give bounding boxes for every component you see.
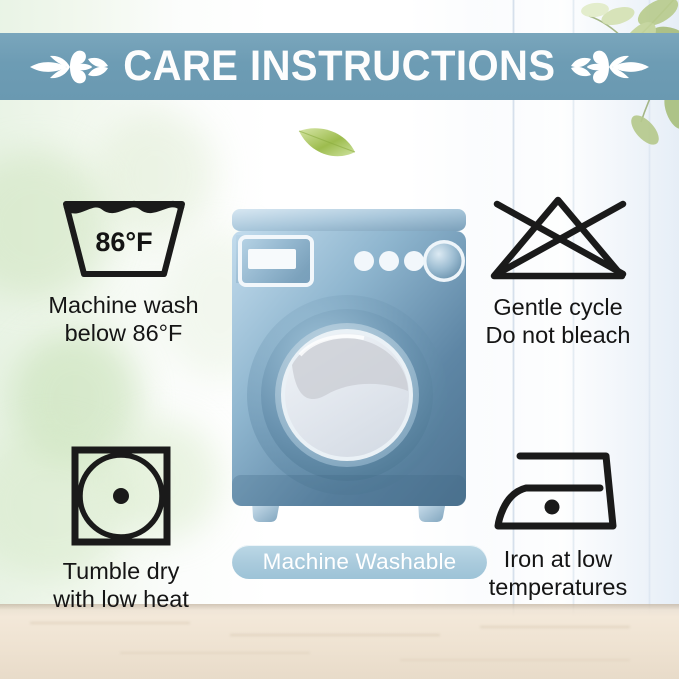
wooden-table-surface [0, 604, 679, 679]
caption-line: Tumble dry [6, 557, 236, 585]
wash-tub-temperature: 86°F [95, 227, 152, 257]
tumble-dry-low-heat-icon [69, 444, 173, 548]
caption-line: below 86°F [6, 319, 241, 347]
care-instructions-infographic: CARE INSTRUCTIONS 86°F Machine wash belo… [0, 0, 679, 679]
symbol-caption: Machine wash below 86°F [6, 291, 241, 347]
wood-grain [480, 626, 630, 628]
header-banner: CARE INSTRUCTIONS [0, 33, 679, 100]
machine-washable-badge[interactable]: Machine Washable [232, 545, 487, 579]
caption-line: with low heat [6, 585, 236, 613]
symbol-tumble-dry-low: Tumble dry with low heat [6, 444, 236, 613]
wash-tub-icon: 86°F [56, 196, 192, 282]
triangle-crossed-no-bleach-icon [483, 192, 633, 284]
detergent-drawer-slot [248, 249, 296, 269]
wood-grain [120, 652, 310, 654]
machine-base-shadow [232, 475, 466, 506]
fleur-de-lis-icon [26, 39, 110, 95]
wood-grain [230, 634, 440, 636]
iron-low-temperature-icon [488, 444, 628, 536]
fleur-de-lis-icon [569, 39, 653, 95]
wood-grain [400, 659, 630, 661]
indicator-dot [354, 251, 374, 271]
badge-label: Machine Washable [263, 549, 457, 575]
control-knob [427, 244, 462, 279]
caption-line: Machine wash [6, 291, 241, 319]
washing-machine-illustration [222, 205, 476, 535]
indicator-dot [379, 251, 399, 271]
symbol-caption: Tumble dry with low heat [6, 557, 236, 613]
floating-leaf-icon [296, 122, 358, 162]
symbol-machine-wash: 86°F Machine wash below 86°F [6, 196, 241, 347]
indicator-dot [404, 251, 424, 271]
machine-top [232, 209, 466, 231]
page-title: CARE INSTRUCTIONS [123, 45, 555, 88]
wood-grain [30, 622, 190, 624]
